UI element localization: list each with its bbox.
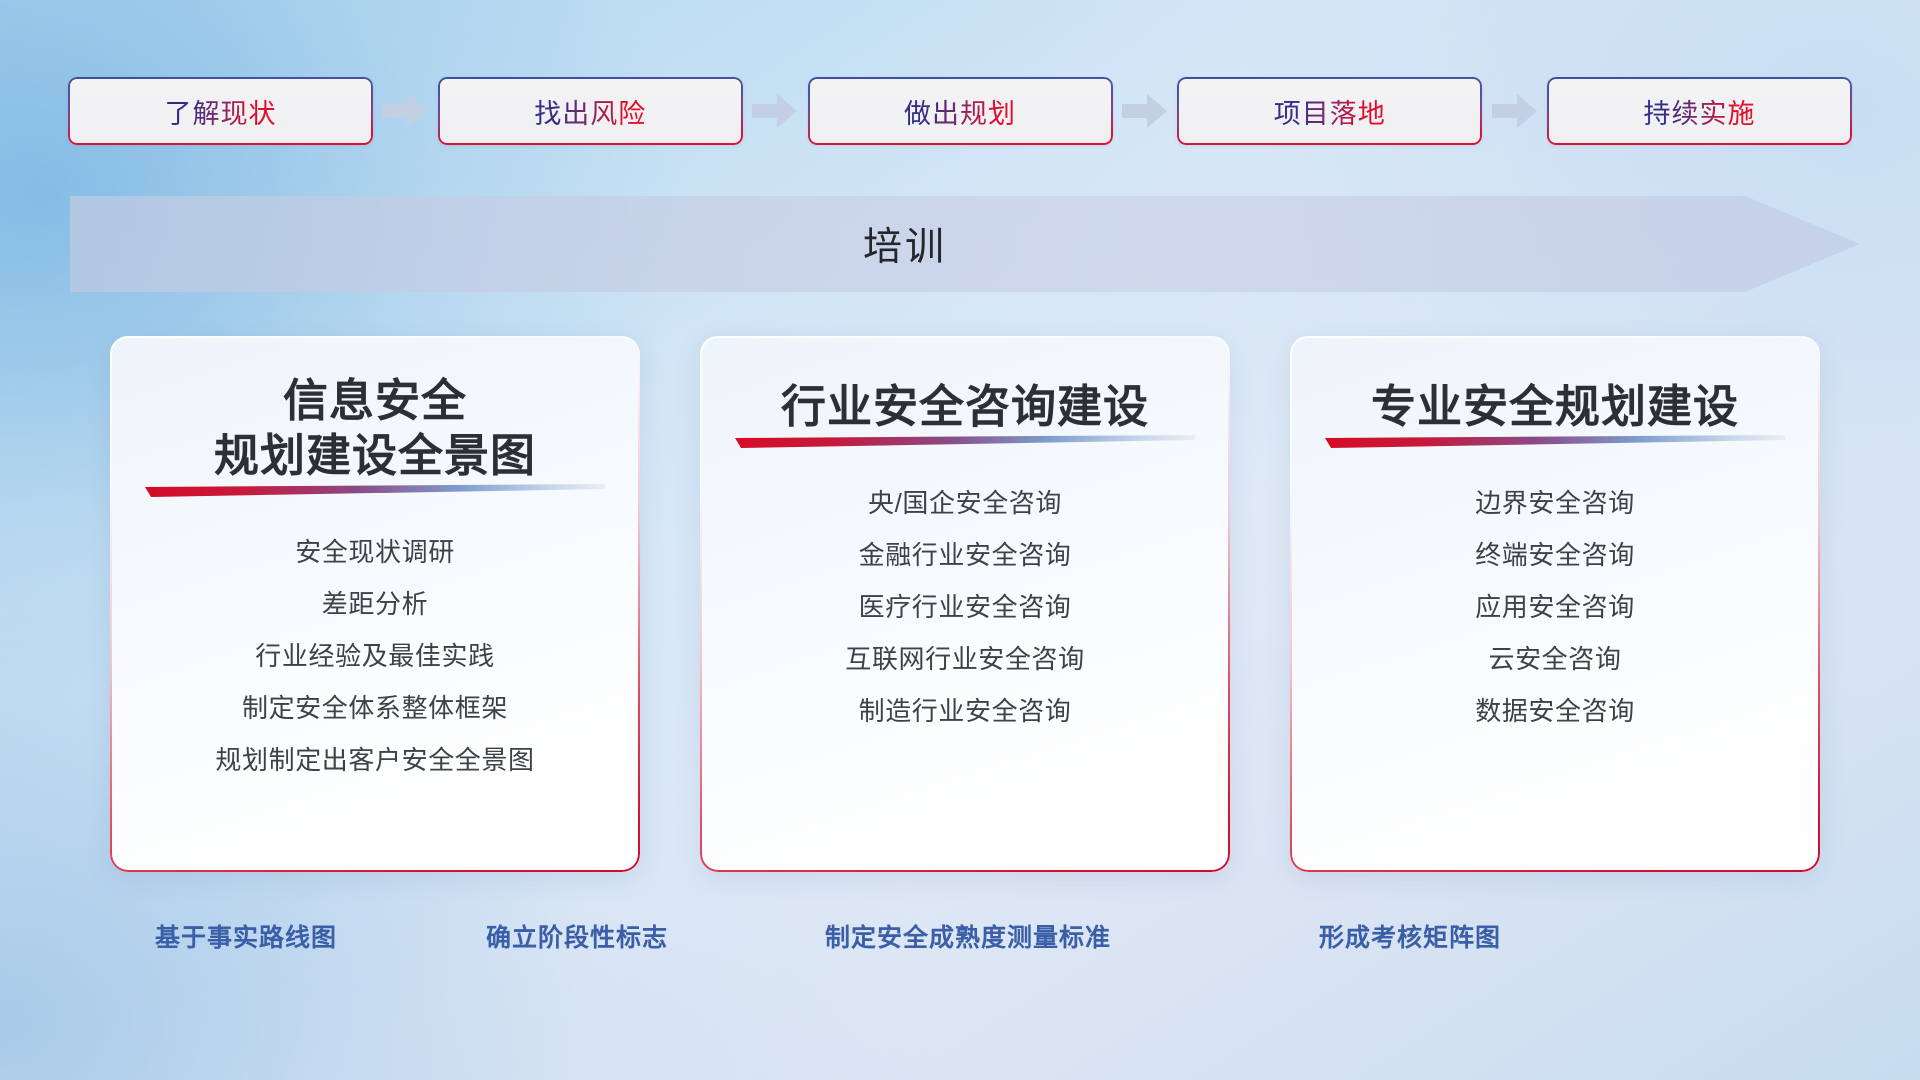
card-item-list: 边界安全咨询 终端安全咨询 应用安全咨询 云安全咨询 数据安全咨询 <box>1324 477 1786 737</box>
banner-title: 培训 <box>70 196 1740 292</box>
tapered-gradient-rule-icon <box>1325 435 1785 453</box>
list-item: 制定安全体系整体框架 <box>144 682 606 734</box>
step-label: 做出规划 <box>904 92 1016 131</box>
step-label: 了解现状 <box>165 92 277 131</box>
list-item: 数据安全咨询 <box>1324 685 1786 737</box>
step-box-3[interactable]: 做出规划 <box>808 77 1113 145</box>
arrow-right-icon <box>1492 91 1538 131</box>
list-item: 边界安全咨询 <box>1324 477 1786 529</box>
card-title: 专业安全规划建设 <box>1324 380 1786 435</box>
list-item: 安全现状调研 <box>144 526 606 578</box>
card-title: 行业安全咨询建设 <box>734 380 1196 435</box>
step-label: 项目落地 <box>1274 92 1386 131</box>
tapered-gradient-rule-icon <box>735 435 1195 453</box>
step-box-1[interactable]: 了解现状 <box>68 77 373 145</box>
list-item: 金融行业安全咨询 <box>734 529 1196 581</box>
list-item: 医疗行业安全咨询 <box>734 581 1196 633</box>
caption-4: 形成考核矩阵图 <box>1319 918 1501 954</box>
card-title: 信息安全 规划建设全景图 <box>144 374 606 484</box>
card-row: 信息安全 规划建设全景图 <box>110 336 1820 872</box>
arrow-right-icon <box>752 91 798 131</box>
card-industry-security-consulting[interactable]: 行业安全咨询建设 <box>700 336 1230 872</box>
caption-3: 制定安全成熟度测量标准 <box>825 918 1111 954</box>
caption-row: 基于事实路线图 确立阶段性标志 制定安全成熟度测量标准 形成考核矩阵图 <box>0 918 1920 966</box>
list-item: 规划制定出客户安全全景图 <box>144 734 606 786</box>
list-item: 行业经验及最佳实践 <box>144 630 606 682</box>
arrow-right-icon <box>1122 91 1168 131</box>
list-item: 终端安全咨询 <box>1324 529 1786 581</box>
arrow-right-icon <box>382 91 428 131</box>
card-professional-security-planning[interactable]: 专业安全规划建设 <box>1290 336 1820 872</box>
step-box-5[interactable]: 持续实施 <box>1547 77 1852 145</box>
caption-2: 确立阶段性标志 <box>486 918 668 954</box>
process-step-row: 了解现状 找出风险 做出规划 项目落地 持续实施 <box>68 76 1852 146</box>
step-label: 找出风险 <box>534 92 646 131</box>
tapered-gradient-rule-icon <box>145 484 605 502</box>
list-item: 云安全咨询 <box>1324 633 1786 685</box>
caption-1: 基于事实路线图 <box>155 918 337 954</box>
list-item: 制造行业安全咨询 <box>734 685 1196 737</box>
list-item: 互联网行业安全咨询 <box>734 633 1196 685</box>
list-item: 央/国企安全咨询 <box>734 477 1196 529</box>
list-item: 差距分析 <box>144 578 606 630</box>
training-banner: 培训 <box>70 196 1860 292</box>
step-box-2[interactable]: 找出风险 <box>438 77 743 145</box>
list-item: 应用安全咨询 <box>1324 581 1786 633</box>
step-label: 持续实施 <box>1644 92 1756 131</box>
step-box-4[interactable]: 项目落地 <box>1177 77 1482 145</box>
card-item-list: 安全现状调研 差距分析 行业经验及最佳实践 制定安全体系整体框架 规划制定出客户… <box>144 526 606 786</box>
card-information-security-blueprint[interactable]: 信息安全 规划建设全景图 <box>110 336 640 872</box>
card-item-list: 央/国企安全咨询 金融行业安全咨询 医疗行业安全咨询 互联网行业安全咨询 制造行… <box>734 477 1196 737</box>
